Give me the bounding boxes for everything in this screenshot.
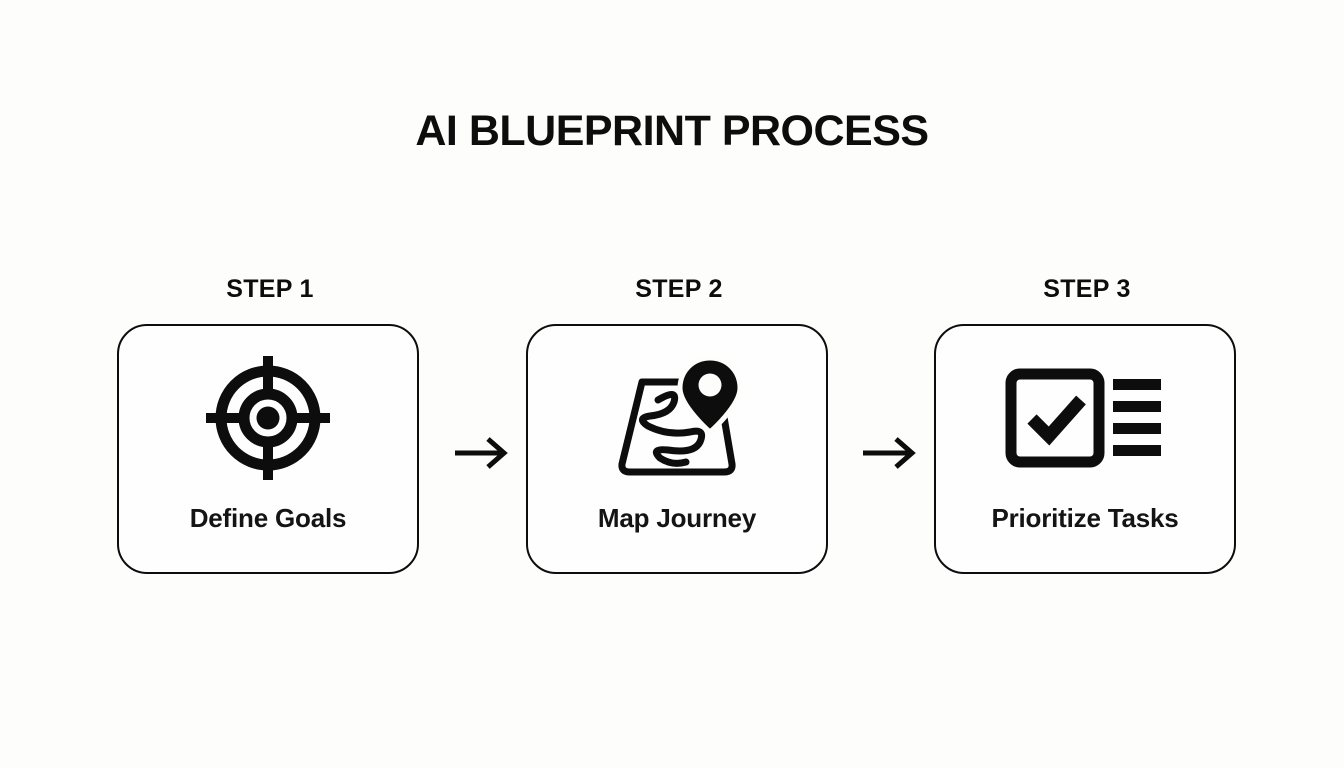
page-title: AI BLUEPRINT PROCESS	[0, 108, 1344, 155]
process-step-3[interactable]: STEP 3 Prioritize Tasks	[934, 270, 1240, 582]
step-card-2[interactable]: Map Journey	[526, 324, 828, 574]
process-steps-row: STEP 1 Define Go	[0, 270, 1344, 590]
arrow-step1-to-step2-icon	[452, 432, 512, 474]
process-step-1[interactable]: STEP 1 Define Go	[117, 270, 423, 582]
step-card-1[interactable]: Define Goals	[117, 324, 419, 574]
step-card-label-3: Prioritize Tasks	[936, 503, 1234, 534]
step-number-label-3: STEP 3	[934, 270, 1240, 308]
step-card-3[interactable]: Prioritize Tasks	[934, 324, 1236, 574]
checklist-checkbox-icon	[936, 352, 1234, 484]
step-card-label-2: Map Journey	[528, 503, 826, 534]
step-card-label-1: Define Goals	[119, 503, 417, 534]
step-number-label-2: STEP 2	[526, 270, 832, 308]
process-step-2[interactable]: STEP 2 Map Journey	[526, 270, 832, 582]
arrow-step2-to-step3-icon	[860, 432, 920, 474]
map-route-pin-icon	[528, 352, 826, 484]
step-number-label-1: STEP 1	[117, 270, 423, 308]
crosshair-target-icon	[119, 352, 417, 484]
slide-canvas: AI BLUEPRINT PROCESS STEP 1	[0, 0, 1344, 768]
